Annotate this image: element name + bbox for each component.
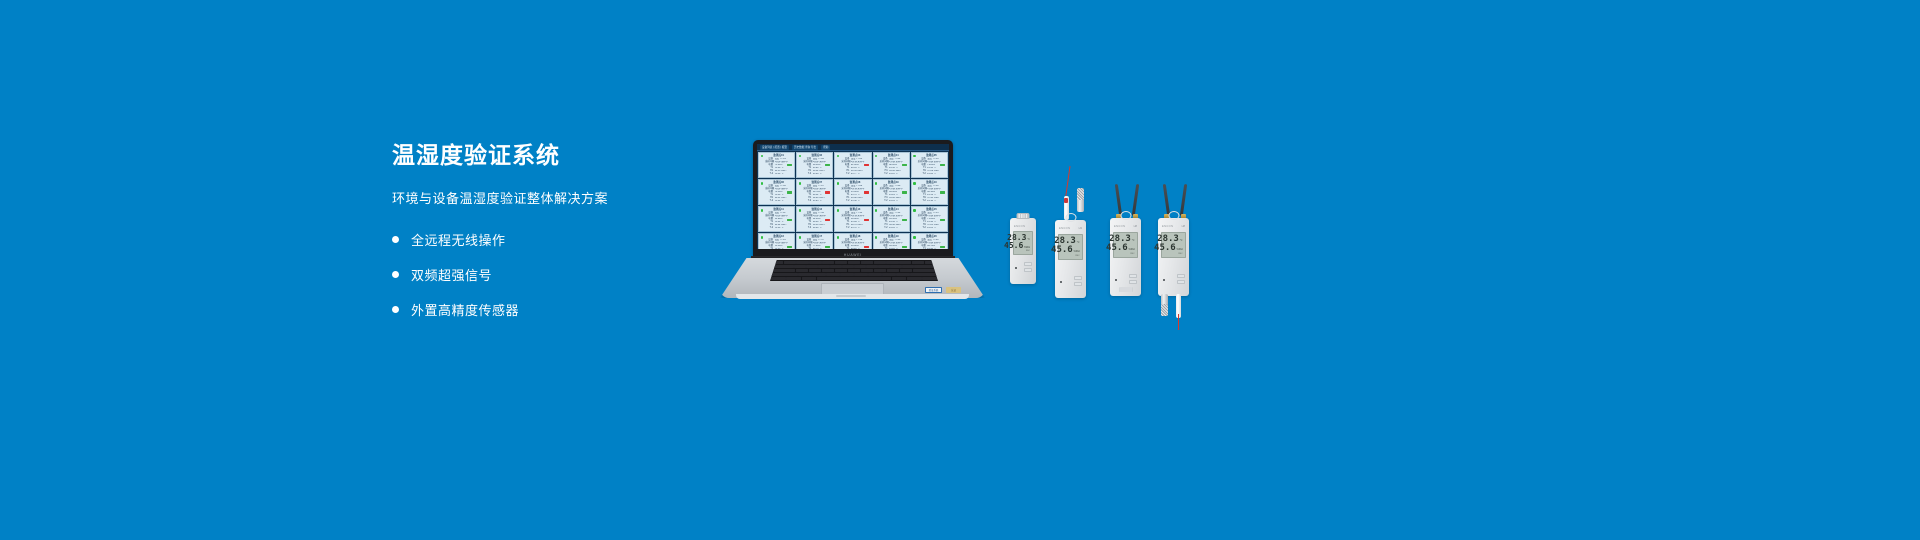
key [826,273,839,276]
key [912,261,924,264]
device-lcd-display: 28.3 ℃ 45.6 %RH REC [1113,232,1137,258]
sensor-field-label: T1 [841,248,849,249]
device-data-logger-compact: ENCON 28.3 ℃ 45.6 %RH REC [1010,218,1036,284]
status-dot-icon [913,209,915,211]
sensor-card[interactable]: 监测点11设备温度 T7-11采样间隔1分钟 采样中电量68.90%T125.6… [758,206,795,232]
sensor-field-value: 25.05 ℃ [889,200,907,203]
key [878,265,889,268]
device-vent-grille [1119,287,1132,292]
device-wireless-logger-dual-antenna-a: ENCON H8 28.3 ℃ 45.6 %RH REC [1110,186,1141,296]
status-dot-icon [837,236,839,238]
sensor-field-label: T-2 [803,200,811,203]
key [861,261,873,264]
lcd-humidity-line: 45.6 %RH [1164,244,1182,253]
sensor-card[interactable]: 监测点07设备温度 T7-07采样间隔1分钟 采样中电量18.70%T126.1… [796,179,833,205]
status-dot-icon [799,155,801,157]
key [910,273,937,276]
sensor-field-label: T-2 [880,227,888,230]
status-dot-icon [761,155,763,157]
sensor-field-value: 25.73 ℃ [813,248,831,249]
sensor-card-row: T-225.20 ℃ [918,173,945,176]
key [890,265,901,268]
status-dot-icon [875,182,877,184]
feature-label: 双频超强信号 [411,265,492,284]
sensor-field-label: T1 [880,248,888,249]
sensor-field-value: 25.11 ℃ [889,173,907,176]
key [771,277,786,280]
device-button-group [1129,274,1137,285]
sensor-card[interactable]: 监测点06设备温度 T7-06采样间隔1分钟 采样中电量76.30%T125.8… [758,179,795,205]
menu-item[interactable]: 设备列表 | 配置 | 报警 [760,145,789,150]
key [830,265,841,268]
laptop-lid: 设备列表 | 配置 | 报警 历史数据 查询 导出 帮助 监测点01设备温度 T… [753,140,953,258]
status-dot-icon [875,236,877,238]
sensor-card-row: T-225.40 ℃ [765,227,792,230]
key [854,273,867,276]
feature-item: 双频超强信号 [392,265,722,284]
sensor-field-label: T-2 [765,200,773,203]
feature-label: 外置高精度传感器 [411,300,519,319]
key [922,277,937,280]
status-led-icon [1115,279,1117,281]
lcd-temperature-unit: ℃ [1027,239,1030,242]
device-button-group [1024,262,1032,273]
status-dot-icon [799,182,801,184]
device-body: ENCON H8 28.3 ℃ 45.6 %RH REC [1158,218,1189,296]
sensor-card[interactable]: 监测点13设备温度 T7-13采样间隔1分钟 采样中电量19.80%T125.9… [834,206,871,232]
keyboard-row [771,265,937,268]
device-brand-label: ENCON [1059,227,1070,230]
status-led-icon [1060,281,1062,283]
key [771,273,798,276]
key [882,273,895,276]
sensor-card[interactable]: 监测点05设备温度 T7-05采样间隔1分钟 采样中电量79.80%T125.4… [911,152,948,178]
sensor-card[interactable]: 监测点09设备温度 T7-09采样间隔1分钟 采样中电量83.60%T125.2… [873,179,910,205]
key [848,261,860,264]
sensor-field-value: 25.95 ℃ [813,200,831,203]
lcd-humidity-unit: %RH [1129,249,1135,252]
sensor-card-row: T-225.77 ℃ [841,173,868,176]
sensor-card-grid: 监测点01设备温度 T7-01采样间隔1分钟 采样中电量75.20%T125.6… [757,151,949,249]
device-button-up[interactable] [1129,274,1137,278]
sensor-field-value: 25.55 ℃ [775,248,793,249]
sensor-card[interactable]: 监测点20设备温度 T7-20采样间隔1分钟 采样中电量86.70%T125.4… [911,233,948,249]
device-button-down[interactable] [1024,268,1032,272]
bullet-dot-icon [392,306,399,313]
keyboard-row [771,269,937,272]
device-button-up[interactable] [1177,274,1185,278]
status-dot-icon [837,182,839,184]
key [812,273,825,276]
sensor-field-label: T-2 [841,200,849,203]
status-dot-icon [761,182,763,184]
sensor-field-label: T-2 [841,227,849,230]
menu-item[interactable]: 历史数据 查询 导出 [792,145,818,150]
key [848,269,860,272]
sensor-card[interactable]: 监测点16设备温度 T7-16采样间隔1分钟 采样中电量80.40%T125.5… [758,233,795,249]
lcd-humidity-value: 45.6 [1106,244,1128,253]
lcd-humidity-line: 45.6 %RH [1061,246,1079,255]
sensor-field-label: T-2 [803,227,811,230]
key [886,261,898,264]
key [899,261,911,264]
device-hanging-loop-icon [1065,213,1076,222]
sensor-field-value: 25.40 ℃ [927,248,945,249]
sensor-card[interactable]: 监测点02设备温度 T7-02采样间隔1分钟 采样中电量88.10%T125.9… [796,152,833,178]
status-dot-icon [837,155,839,157]
product-sticker-gold: 认证 [946,287,961,293]
sensor-card-row: T-225.18 ℃ [918,200,945,203]
key [866,265,877,268]
bullet-dot-icon [392,236,399,243]
probe-mesh-filter [1161,304,1168,316]
key [874,261,886,264]
key [896,273,909,276]
status-led-icon [1015,267,1017,269]
device-model-label: H8 [1182,225,1185,228]
sensor-field-value: 26.00 ℃ [813,227,831,230]
laptop-lip-notch [836,295,866,297]
sensor-field-label: T-2 [918,227,926,230]
key [806,265,817,268]
lcd-status-label: REC [1164,253,1182,255]
sensor-card[interactable]: 监测点19设备温度 T7-19采样间隔1分钟 采样中电量93.30%T125.2… [873,233,910,249]
sensor-card-row: T-225.25 ℃ [918,227,945,230]
keyboard-row [771,261,937,264]
device-body: ENCON 28.3 ℃ 45.6 %RH REC [1010,218,1036,284]
sensor-card-row: T-225.72 ℃ [841,227,868,230]
probe-cap-red [1064,198,1068,203]
key [786,277,801,280]
device-brand-label: ENCON [1114,225,1125,228]
sensor-card-row: T-225.00 ℃ [765,173,792,176]
sensor-field-value: 25.10 ℃ [889,227,907,230]
laptop-keyboard[interactable] [770,260,938,281]
sensor-card-row: T125.40 ℃ [918,248,945,249]
sensor-card-row: T-225.10 ℃ [880,227,907,230]
device-button-group [1177,274,1185,285]
antenna-right-icon [1132,184,1140,216]
lcd-humidity-line: 45.6 %RH [1016,242,1030,250]
keyboard-row [771,277,937,280]
sensor-card[interactable]: 监测点17设备温度 T7-17采样间隔1分钟 采样中电量77.60%T125.7… [796,233,833,249]
device-wireless-logger-dual-antenna-b: ENCON H8 28.3 ℃ 45.6 %RH REC [1158,186,1189,296]
lcd-temperature-unit: ℃ [1132,240,1135,243]
sensor-field-value: 25.72 ℃ [851,227,869,230]
device-lcd-display: 28.3 ℃ 45.6 %RH REC [1013,231,1033,255]
sensor-field-label: T-2 [880,173,888,176]
lcd-humidity-line: 45.6 %RH [1116,244,1134,253]
status-dot-icon [799,209,801,211]
sensor-card-row: T126.20 ℃ [841,248,868,249]
device-hanging-loop-icon [1168,211,1179,220]
sensor-card-row: T-226.00 ℃ [803,227,830,230]
lcd-status-label: REC [1016,250,1030,252]
sensor-field-value: 25.25 ℃ [927,227,945,230]
feature-item: 外置高精度传感器 [392,300,722,319]
sensor-card[interactable]: 监测点14设备温度 T7-14采样间隔1分钟 采样中电量85.50%T125.3… [873,206,910,232]
lcd-humidity-value: 45.6 [1004,242,1023,250]
key [798,273,811,276]
device-model-label: H3 [1079,227,1082,230]
sensor-card-row: T-225.95 ℃ [803,200,830,203]
device-button-up[interactable] [1074,276,1082,280]
device-button-down[interactable] [1129,280,1137,284]
product-sticker-blue: 验证系统 [925,287,942,293]
key [842,265,853,268]
sensor-field-label: T-2 [765,173,773,176]
key [822,261,834,264]
status-dot-icon [913,182,915,184]
status-dot-icon [875,155,877,157]
lcd-humidity-unit: %RH [1177,249,1183,252]
sensor-card[interactable]: 监测点18设备温度 T7-18采样间隔1分钟 采样中电量16.90%T126.2… [834,233,871,249]
sensor-field-label: T-2 [765,227,773,230]
lcd-humidity-value: 45.6 [1154,244,1176,253]
sensor-field-label: T1 [803,248,811,249]
sensor-field-label: T1 [918,248,926,249]
key [887,269,899,272]
status-dot-icon [799,236,801,238]
key [822,269,834,272]
status-dot-icon [913,155,915,157]
sensor-field-label: T-2 [841,173,849,176]
device-button-up[interactable] [1024,262,1032,266]
sensor-field-value: 25.08 ℃ [813,173,831,176]
key [861,269,873,272]
probe-mesh-filter [1077,188,1084,200]
device-hanging-loop-icon [1120,211,1131,220]
sensor-card-row: T125.55 ℃ [765,248,792,249]
key [902,265,913,268]
feature-list: 全远程无线操作 双频超强信号 外置高精度传感器 [392,230,722,319]
lcd-humidity-unit: %RH [1024,247,1030,250]
key [907,277,922,280]
laptop-screen: 设备列表 | 配置 | 报警 历史数据 查询 导出 帮助 监测点01设备温度 T… [757,144,949,249]
key [868,273,881,276]
device-button-group [1074,276,1082,287]
spacebar-key [817,277,891,280]
sensor-card-row: T-225.05 ℃ [880,200,907,203]
page-subtitle: 环境与设备温湿度验证整体解决方案 [392,191,722,208]
status-dot-icon [837,209,839,211]
lcd-status-label: REC [1116,253,1134,255]
device-hook-icon [1017,213,1030,219]
key [796,261,808,264]
lcd-temperature-unit: ℃ [1077,242,1080,245]
sensor-card-row: T125.28 ℃ [880,248,907,249]
status-dot-icon [913,236,915,238]
sensor-card[interactable]: 监测点04设备温度 T7-04采样间隔1分钟 采样中电量92.00%T125.3… [873,152,910,178]
key [771,269,796,272]
status-dot-icon [761,236,763,238]
lcd-status-label: REC [1061,255,1079,257]
sensor-card-row: T-225.60 ℃ [765,200,792,203]
sensor-card[interactable]: 监测点15设备温度 T7-15采样间隔1分钟 采样中电量71.20%T125.4… [911,206,948,232]
sensor-card-row: T125.73 ℃ [803,248,830,249]
banner-copy: 温湿度验证系统 环境与设备温湿度验证整体解决方案 全远程无线操作 双频超强信号 … [392,142,722,335]
key [892,277,907,280]
key [802,277,817,280]
sensor-field-value: 25.30 ℃ [851,200,869,203]
key [840,273,853,276]
sensor-field-value: 26.20 ℃ [851,248,869,249]
device-button-down[interactable] [1074,282,1082,286]
key [796,269,808,272]
sensor-field-label: T1 [765,248,773,249]
sensor-field-value: 25.77 ℃ [851,173,869,176]
status-dot-icon [875,209,877,211]
key [809,261,821,264]
sensor-field-value: 25.18 ℃ [927,200,945,203]
device-button-down[interactable] [1177,280,1185,284]
page-title: 温湿度验证系统 [392,142,722,170]
key [913,269,938,272]
device-model-label: H8 [1134,225,1137,228]
sensor-field-value: 25.40 ℃ [775,227,793,230]
probe-cable-red [1178,314,1179,330]
device-body: ENCON H3 28.3 ℃ 45.6 %RH REC [1055,220,1086,298]
laptop-illustration: 设备列表 | 配置 | 报警 历史数据 查询 导出 帮助 监测点01设备温度 T… [720,140,985,300]
sensor-card-row: T-225.30 ℃ [841,200,868,203]
lcd-humidity-value: 45.6 [1051,246,1073,255]
sensor-card-row: T-225.08 ℃ [803,173,830,176]
sensor-card[interactable]: 监测点08设备温度 T7-08采样间隔1分钟 采样中电量15.40%T125.7… [834,179,871,205]
key [900,269,912,272]
device-data-logger-external-probe: ENCON H3 28.3 ℃ 45.6 %RH REC [1055,200,1086,298]
sensor-field-value: 25.20 ℃ [927,173,945,176]
bullet-dot-icon [392,271,399,278]
menu-item[interactable]: 帮助 [821,145,830,150]
sensor-card-row: T-225.11 ℃ [880,173,907,176]
sensor-field-label: T-2 [803,173,811,176]
sensor-field-value: 25.00 ℃ [775,173,793,176]
device-lcd-display: 28.3 ℃ 45.6 %RH REC [1161,232,1185,258]
device-body: ENCON H8 28.3 ℃ 45.6 %RH REC [1110,218,1141,296]
feature-item: 全远程无线操作 [392,230,722,249]
dashboard-menubar: 设备列表 | 配置 | 报警 历史数据 查询 导出 帮助 [757,144,949,151]
status-dot-icon [761,209,763,211]
status-led-icon [1163,279,1165,281]
sensor-field-value: 25.60 ℃ [775,200,793,203]
key [874,269,886,272]
lcd-humidity-unit: %RH [1074,251,1080,254]
key [835,261,847,264]
sensor-field-label: T-2 [880,200,888,203]
antenna-right-icon [1180,184,1188,216]
sensor-card[interactable]: 监测点10设备温度 T7-10采样间隔1分钟 采样中电量90.10%T125.5… [911,179,948,205]
sensor-card[interactable]: 监测点01设备温度 T7-01采样间隔1分钟 采样中电量75.20%T125.6… [758,152,795,178]
device-brand-label: ENCON [1014,225,1025,228]
device-lcd-display: 28.3 ℃ 45.6 %RH REC [1058,234,1082,260]
sensor-card[interactable]: 监测点03设备温度 T7-03采样间隔1分钟 采样中电量21.40%T126.0… [834,152,871,178]
key [784,261,796,264]
key [835,269,847,272]
keyboard-row [771,273,937,276]
sensor-card[interactable]: 监测点12设备温度 T7-12采样间隔1分钟 采样中电量12.30%T126.3… [796,206,833,232]
sensor-field-label: T-2 [918,200,926,203]
product-banner: 温湿度验证系统 环境与设备温湿度验证整体解决方案 全远程无线操作 双频超强信号 … [0,0,1920,540]
feature-label: 全远程无线操作 [411,230,506,249]
key [854,265,865,268]
lcd-temperature-unit: ℃ [1180,240,1183,243]
sensor-field-label: T-2 [918,173,926,176]
key [818,265,829,268]
device-brand-label: ENCON [1162,225,1173,228]
key [794,265,805,268]
sensor-field-value: 25.28 ℃ [889,248,907,249]
key [809,269,821,272]
